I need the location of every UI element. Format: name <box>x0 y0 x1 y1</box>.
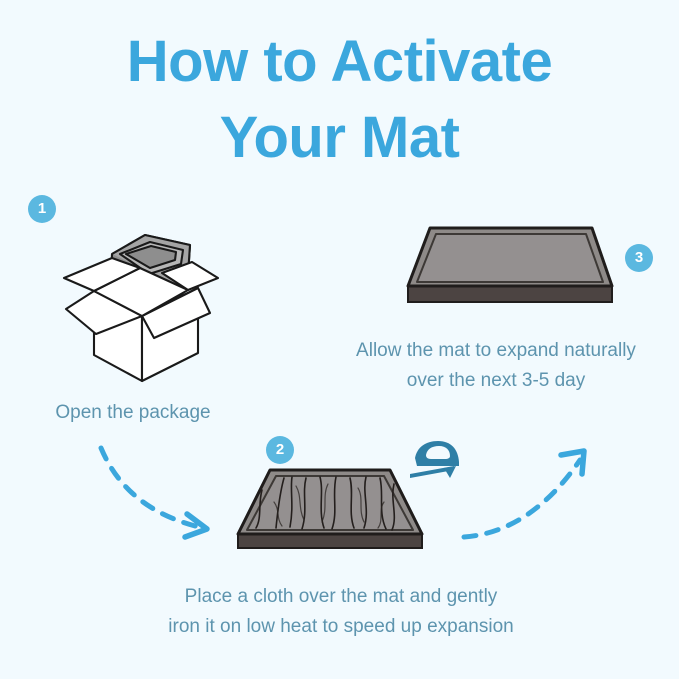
arrow-step1-to-step2 <box>95 440 235 550</box>
infographic-canvas: How to Activate Your Mat 1 <box>0 0 679 679</box>
step-caption-1: Open the package <box>0 398 266 428</box>
flat-mat-icon <box>400 222 620 319</box>
page-title: How to Activate Your Mat <box>0 24 679 176</box>
step-badge-2: 2 <box>266 436 294 464</box>
step-badge-3: 3 <box>625 244 653 272</box>
step-caption-2-line-2: iron it on low heat to speed up expansio… <box>116 612 566 642</box>
wrinkled-mat-icon <box>232 462 428 567</box>
step-caption-3-line-2: over the next 3-5 day <box>316 366 676 396</box>
page-title-line-1: How to Activate <box>0 24 679 100</box>
step-caption-3: Allow the mat to expand naturally over t… <box>316 336 676 396</box>
step-caption-2-line-1: Place a cloth over the mat and gently <box>116 582 566 612</box>
cardboard-box-open-icon <box>50 218 225 388</box>
step-caption-3-line-1: Allow the mat to expand naturally <box>316 336 676 366</box>
page-title-line-2: Your Mat <box>0 100 679 176</box>
step-caption-2: Place a cloth over the mat and gently ir… <box>116 582 566 642</box>
arrow-step2-to-step3 <box>458 438 608 553</box>
step-caption-1-line-1: Open the package <box>0 398 266 428</box>
